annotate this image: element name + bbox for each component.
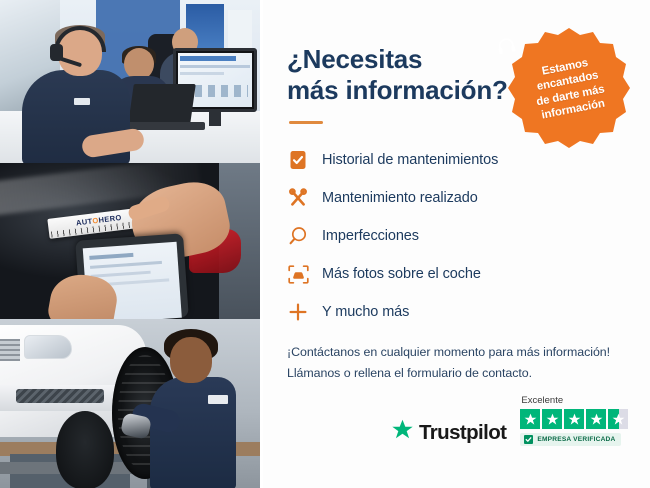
trustpilot-wordmark: Trustpilot bbox=[419, 421, 506, 445]
trustpilot-widget[interactable]: Trustpilot Excelente bbox=[391, 395, 628, 446]
star-filled bbox=[564, 409, 584, 429]
support-badge: Estamos encantados de darte más informac… bbox=[506, 26, 632, 150]
magnifier-icon bbox=[287, 225, 309, 247]
headline-line-2: más información? bbox=[287, 75, 508, 105]
check-icon bbox=[524, 435, 533, 444]
star-filled bbox=[586, 409, 606, 429]
feature-item-imperfections: Imperfecciones bbox=[287, 220, 650, 252]
car-focus-frame-icon bbox=[287, 263, 309, 285]
star-partial bbox=[608, 409, 628, 429]
headline-line-1: ¿Necesitas bbox=[287, 44, 422, 74]
feature-list: Historial de mantenimientos Mantenimient… bbox=[287, 144, 650, 328]
info-banner: AUTOHERO bbox=[0, 0, 650, 488]
document-check-icon bbox=[287, 149, 309, 171]
feature-label: Imperfecciones bbox=[322, 228, 419, 244]
feature-label: Y mucho más bbox=[322, 304, 409, 320]
mechanic-wheel-photo bbox=[0, 319, 263, 488]
verified-label: EMPRESA VERIFICADA bbox=[537, 436, 615, 443]
feature-label: Mantenimiento realizado bbox=[322, 190, 478, 206]
star-filled bbox=[542, 409, 562, 429]
feature-item-more-photos: Más fotos sobre el coche bbox=[287, 258, 650, 290]
title-divider bbox=[289, 121, 323, 124]
contact-line-1: ¡Contáctanos en cualquier momento para m… bbox=[287, 345, 610, 359]
feature-item-much-more: Y mucho más bbox=[287, 296, 650, 328]
verified-company-badge: EMPRESA VERIFICADA bbox=[520, 433, 621, 446]
trustpilot-star-icon bbox=[391, 419, 414, 446]
feature-label: Historial de mantenimientos bbox=[322, 152, 498, 168]
photo-column: AUTOHERO bbox=[0, 0, 263, 488]
contact-text: ¡Contáctanos en cualquier momento para m… bbox=[287, 342, 650, 383]
call-center-agents-photo bbox=[0, 0, 263, 163]
star-rating bbox=[520, 409, 628, 429]
contact-line-2: Llámanos o rellena el formulario de cont… bbox=[287, 366, 532, 380]
trustpilot-rating: Excelente bbox=[520, 395, 628, 446]
plus-icon bbox=[287, 301, 309, 323]
star-filled bbox=[520, 409, 540, 429]
tools-wrench-screwdriver-icon bbox=[287, 187, 309, 209]
rating-label: Excelente bbox=[520, 395, 563, 406]
trustpilot-logo: Trustpilot bbox=[391, 419, 506, 446]
content-panel: ¿Necesitas más información? Historial de… bbox=[263, 0, 650, 488]
feature-label: Más fotos sobre el coche bbox=[322, 266, 481, 282]
car-inspection-ruler-photo: AUTOHERO bbox=[0, 163, 263, 319]
feature-item-maintenance-done: Mantenimiento realizado bbox=[287, 182, 650, 214]
